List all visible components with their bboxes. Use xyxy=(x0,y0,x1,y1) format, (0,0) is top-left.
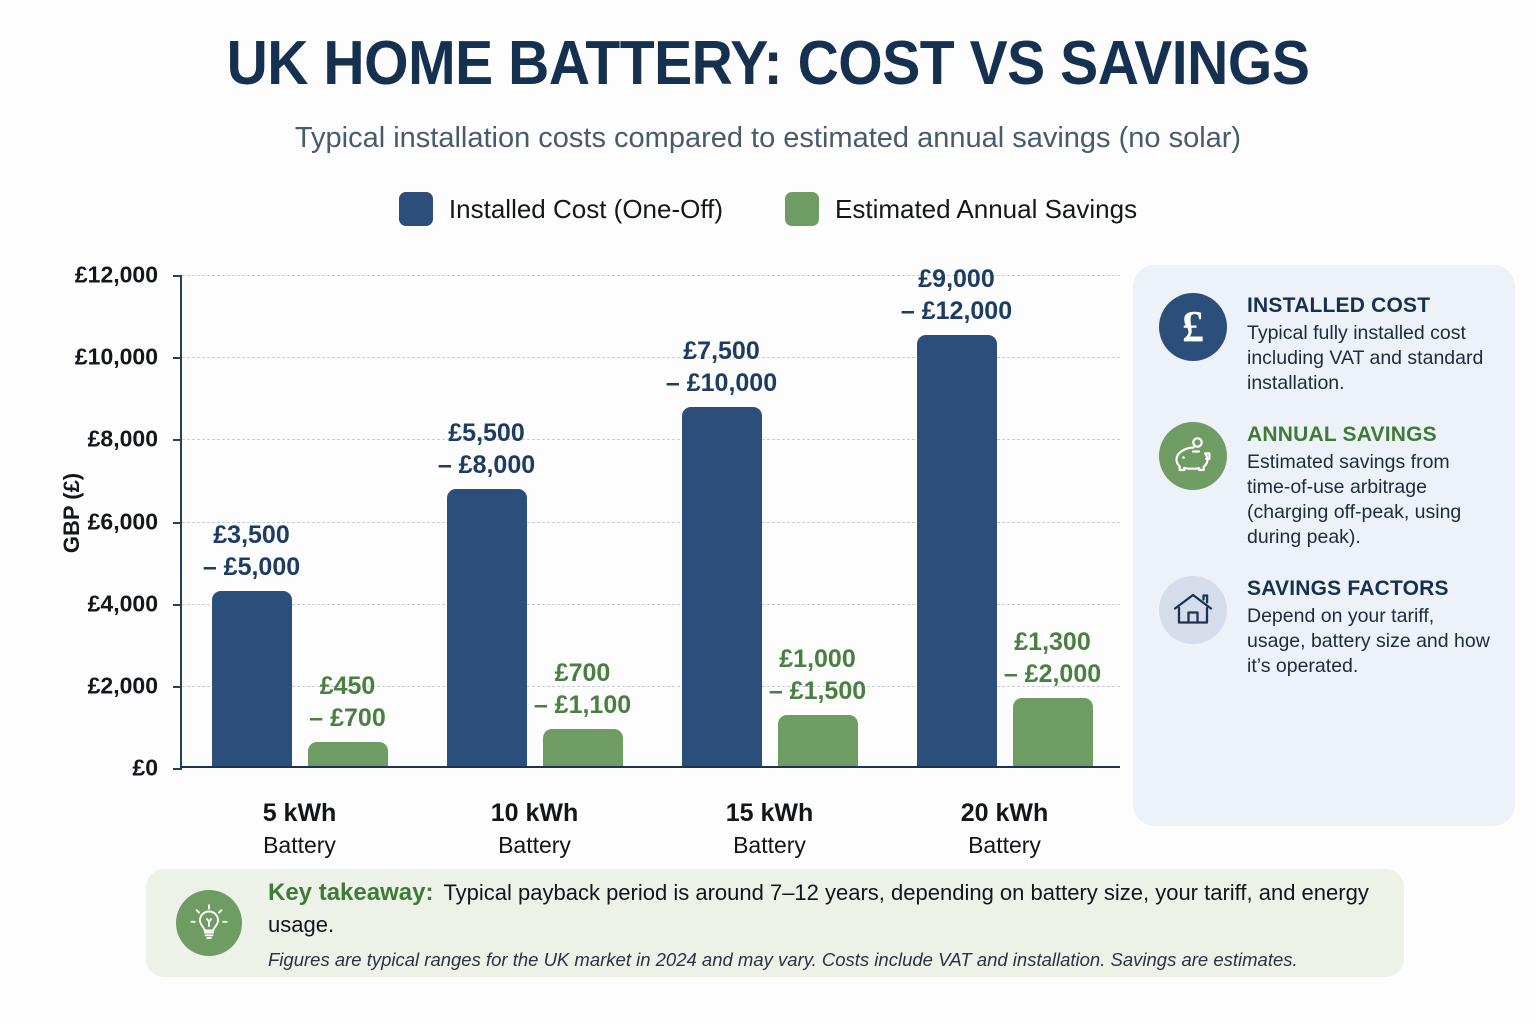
bar-installed-cost[interactable] xyxy=(917,335,997,766)
legend-label-annual-savings: Estimated Annual Savings xyxy=(835,194,1137,225)
side-info-panel: £ INSTALLED COST Typical fully installed… xyxy=(1133,265,1515,826)
bar-value-line: £3,500 xyxy=(213,521,289,549)
piggy-bank-icon xyxy=(1159,422,1227,490)
bar-group: £7,500– £10,000£1,000– £1,500 xyxy=(682,273,858,766)
bar-chart: GBP (£) £0£2,000£4,000£6,000£8,000£10,00… xyxy=(30,255,1120,855)
y-axis-tick-mark xyxy=(173,357,182,359)
bar-label-annual-savings: £1,000– £1,500 xyxy=(728,643,908,707)
bar-value-line: – £12,000 xyxy=(901,297,1012,325)
bar-installed-cost[interactable] xyxy=(682,407,762,766)
y-axis-tick-label: £6,000 xyxy=(18,508,158,535)
y-axis-tick-label: £2,000 xyxy=(18,672,158,699)
y-axis-tick-mark xyxy=(173,686,182,688)
category-label-sub: Battery xyxy=(425,830,645,860)
y-axis-tick-label: £10,000 xyxy=(18,344,158,371)
infographic-root: UK HOME BATTERY: COST VS SAVINGS Typical… xyxy=(0,0,1536,1024)
y-axis-tick-label: £12,000 xyxy=(18,262,158,289)
page-subtitle: Typical installation costs compared to e… xyxy=(0,122,1536,155)
x-axis-category-label: 5 kWhBattery xyxy=(190,797,410,860)
category-label-sub: Battery xyxy=(895,830,1115,860)
category-label-main: 10 kWh xyxy=(425,797,645,830)
side-card-heading: ANNUAL SAVINGS xyxy=(1247,423,1491,447)
legend-item-annual-savings[interactable]: Estimated Annual Savings xyxy=(785,192,1137,226)
category-label-main: 15 kWh xyxy=(660,797,880,830)
bar-label-installed-cost: £7,500– £10,000 xyxy=(632,335,812,399)
bar-value-line: – £10,000 xyxy=(666,369,777,397)
side-card-heading: INSTALLED COST xyxy=(1247,294,1491,318)
bar-value-line: – £700 xyxy=(309,704,385,732)
key-takeaway-text: Typical payback period is around 7–12 ye… xyxy=(268,880,1369,936)
bar-value-line: – £2,000 xyxy=(1004,660,1101,688)
bar-label-installed-cost: £9,000– £12,000 xyxy=(867,263,1047,327)
category-label-sub: Battery xyxy=(190,830,410,860)
bar-label-annual-savings: £450– £700 xyxy=(258,670,438,734)
category-label-sub: Battery xyxy=(660,830,880,860)
bar-value-line: £700 xyxy=(555,659,611,687)
side-card-annual-savings: ANNUAL SAVINGS Estimated savings from ti… xyxy=(1159,422,1491,550)
bar-label-annual-savings: £700– £1,100 xyxy=(493,657,673,721)
x-axis-category-label: 10 kWhBattery xyxy=(425,797,645,860)
y-axis-tick-mark xyxy=(173,604,182,606)
key-takeaway-banner: Key takeaway:Typical payback period is a… xyxy=(146,869,1404,977)
legend-label-installed-cost: Installed Cost (One-Off) xyxy=(449,194,723,225)
bar-group: £9,000– £12,000£1,300– £2,000 xyxy=(917,273,1093,766)
bar-label-annual-savings: £1,300– £2,000 xyxy=(963,626,1143,690)
bar-annual-savings[interactable] xyxy=(308,742,388,766)
key-takeaway-label: Key takeaway: xyxy=(268,879,433,906)
legend-item-installed-cost[interactable]: Installed Cost (One-Off) xyxy=(399,192,723,226)
bar-label-installed-cost: £3,500– £5,000 xyxy=(162,519,342,583)
y-axis-tick-label: £0 xyxy=(18,755,158,782)
pound-sterling-icon: £ xyxy=(1159,293,1227,361)
legend-swatch-blue-icon xyxy=(399,192,433,226)
house-icon xyxy=(1159,576,1227,644)
bar-annual-savings[interactable] xyxy=(778,715,858,766)
bar-value-line: – £1,500 xyxy=(769,677,866,705)
bar-value-line: £7,500 xyxy=(683,337,759,365)
x-axis-category-label: 20 kWhBattery xyxy=(895,797,1115,860)
bar-installed-cost[interactable] xyxy=(447,489,527,766)
side-card-savings-factors: SAVINGS FACTORS Depend on your tariff, u… xyxy=(1159,576,1491,679)
side-card-heading: SAVINGS FACTORS xyxy=(1247,577,1491,601)
bar-value-line: £5,500 xyxy=(448,419,524,447)
plot-area: £0£2,000£4,000£6,000£8,000£10,000£12,000… xyxy=(180,275,1120,768)
x-axis-category-label: 15 kWhBattery xyxy=(660,797,880,860)
page-title: UK HOME BATTERY: COST VS SAVINGS xyxy=(61,28,1474,99)
bar-value-line: – £8,000 xyxy=(438,451,535,479)
side-card-body: Typical fully installed cost including V… xyxy=(1247,321,1491,396)
side-card-installed-cost: £ INSTALLED COST Typical fully installed… xyxy=(1159,293,1491,396)
bar-value-line: £1,300 xyxy=(1014,628,1090,656)
bar-value-line: £9,000 xyxy=(918,265,994,293)
bar-annual-savings[interactable] xyxy=(1013,698,1093,766)
y-axis-tick-mark xyxy=(173,768,182,770)
y-axis-tick-mark xyxy=(173,275,182,277)
y-axis-tick-mark xyxy=(173,439,182,441)
side-card-body: Estimated savings from time-of-use arbit… xyxy=(1247,450,1491,550)
bar-group: £3,500– £5,000£450– £700 xyxy=(212,273,388,766)
bar-group: £5,500– £8,000£700– £1,100 xyxy=(447,273,623,766)
category-label-main: 5 kWh xyxy=(190,797,410,830)
side-card-body: Depend on your tariff, usage, battery si… xyxy=(1247,604,1491,679)
y-axis-tick-label: £8,000 xyxy=(18,426,158,453)
bar-annual-savings[interactable] xyxy=(543,729,623,766)
bar-value-line: £1,000 xyxy=(779,645,855,673)
bar-value-line: – £5,000 xyxy=(203,553,300,581)
lightbulb-icon xyxy=(176,890,242,956)
chart-legend: Installed Cost (One-Off) Estimated Annua… xyxy=(0,192,1536,226)
bar-value-line: £450 xyxy=(320,672,376,700)
banner-footnote: Figures are typical ranges for the UK ma… xyxy=(268,949,1374,971)
y-axis-tick-label: £4,000 xyxy=(18,590,158,617)
bar-value-line: – £1,100 xyxy=(534,691,631,719)
key-takeaway-line: Key takeaway:Typical payback period is a… xyxy=(268,877,1374,939)
category-label-main: 20 kWh xyxy=(895,797,1115,830)
bar-label-installed-cost: £5,500– £8,000 xyxy=(397,417,577,481)
legend-swatch-green-icon xyxy=(785,192,819,226)
